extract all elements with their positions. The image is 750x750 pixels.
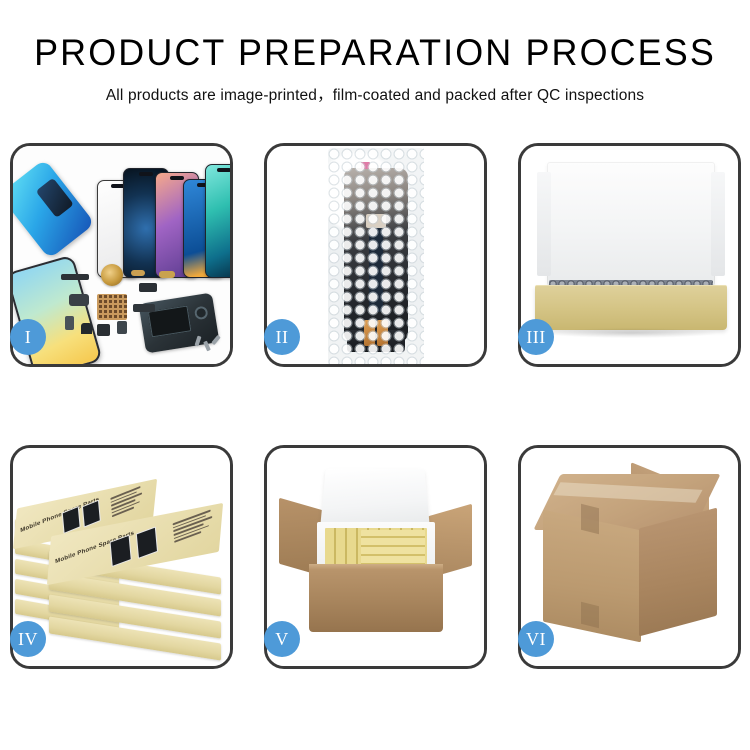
carton-right-face-icon [639, 508, 717, 637]
step-image-1 [13, 146, 230, 364]
kraft-box-body-icon [535, 286, 727, 330]
part-icon [69, 294, 89, 306]
part-icon [81, 323, 92, 334]
step-image-4: Mobile Phone Spare Parts Mobile Phone Sp… [13, 448, 230, 666]
step-panel-3[interactable]: III [518, 143, 741, 367]
step-badge-2: II [264, 319, 300, 355]
step-panel-1[interactable]: I [10, 143, 233, 367]
page-title: PRODUCT PREPARATION PROCESS [11, 30, 739, 76]
page-header: PRODUCT PREPARATION PROCESS All products… [0, 0, 750, 105]
carton-seam-icon [581, 504, 599, 534]
screws-group-icon [196, 334, 224, 356]
bubble-texture [328, 148, 424, 364]
step-image-3 [521, 146, 738, 364]
drop-shadow [545, 328, 717, 338]
part-icon [61, 274, 89, 280]
part-icon [117, 321, 127, 334]
foam-lid-icon [320, 469, 430, 529]
part-icon [97, 324, 110, 336]
process-steps-grid: I II III [10, 143, 740, 669]
part-icon [139, 283, 157, 292]
step-panel-6[interactable]: VI [518, 445, 741, 669]
step-badge-6: VI [518, 621, 554, 657]
bubble-wrap-bag [328, 148, 424, 364]
flex-cable-icon [131, 270, 145, 276]
step-badge-5: V [264, 621, 300, 657]
step-image-5 [267, 448, 484, 666]
step-panel-4[interactable]: Mobile Phone Spare Parts Mobile Phone Sp… [10, 445, 233, 669]
carton-front-icon [309, 570, 443, 632]
flex-cable-icon [159, 271, 175, 278]
phone-fan-group [97, 160, 230, 278]
connector-chip-icon [97, 294, 127, 320]
speaker-coil-icon [101, 264, 123, 286]
part-icon [65, 316, 74, 330]
box-stack-group: Mobile Phone Spare Parts Mobile Phone Sp… [15, 466, 230, 656]
carton-seam-icon [581, 602, 599, 628]
page-subtitle: All products are image-printed，film-coat… [0, 83, 750, 105]
step-badge-4: IV [10, 621, 46, 657]
step-image-2 [267, 146, 484, 364]
step-panel-5[interactable]: V [264, 445, 487, 669]
white-foam-lid-icon [547, 162, 715, 286]
step-badge-3: III [518, 319, 554, 355]
step-image-6 [521, 448, 738, 666]
part-icon [133, 304, 155, 312]
step-badge-1: I [10, 319, 46, 355]
step-panel-2[interactable]: II [264, 143, 487, 367]
